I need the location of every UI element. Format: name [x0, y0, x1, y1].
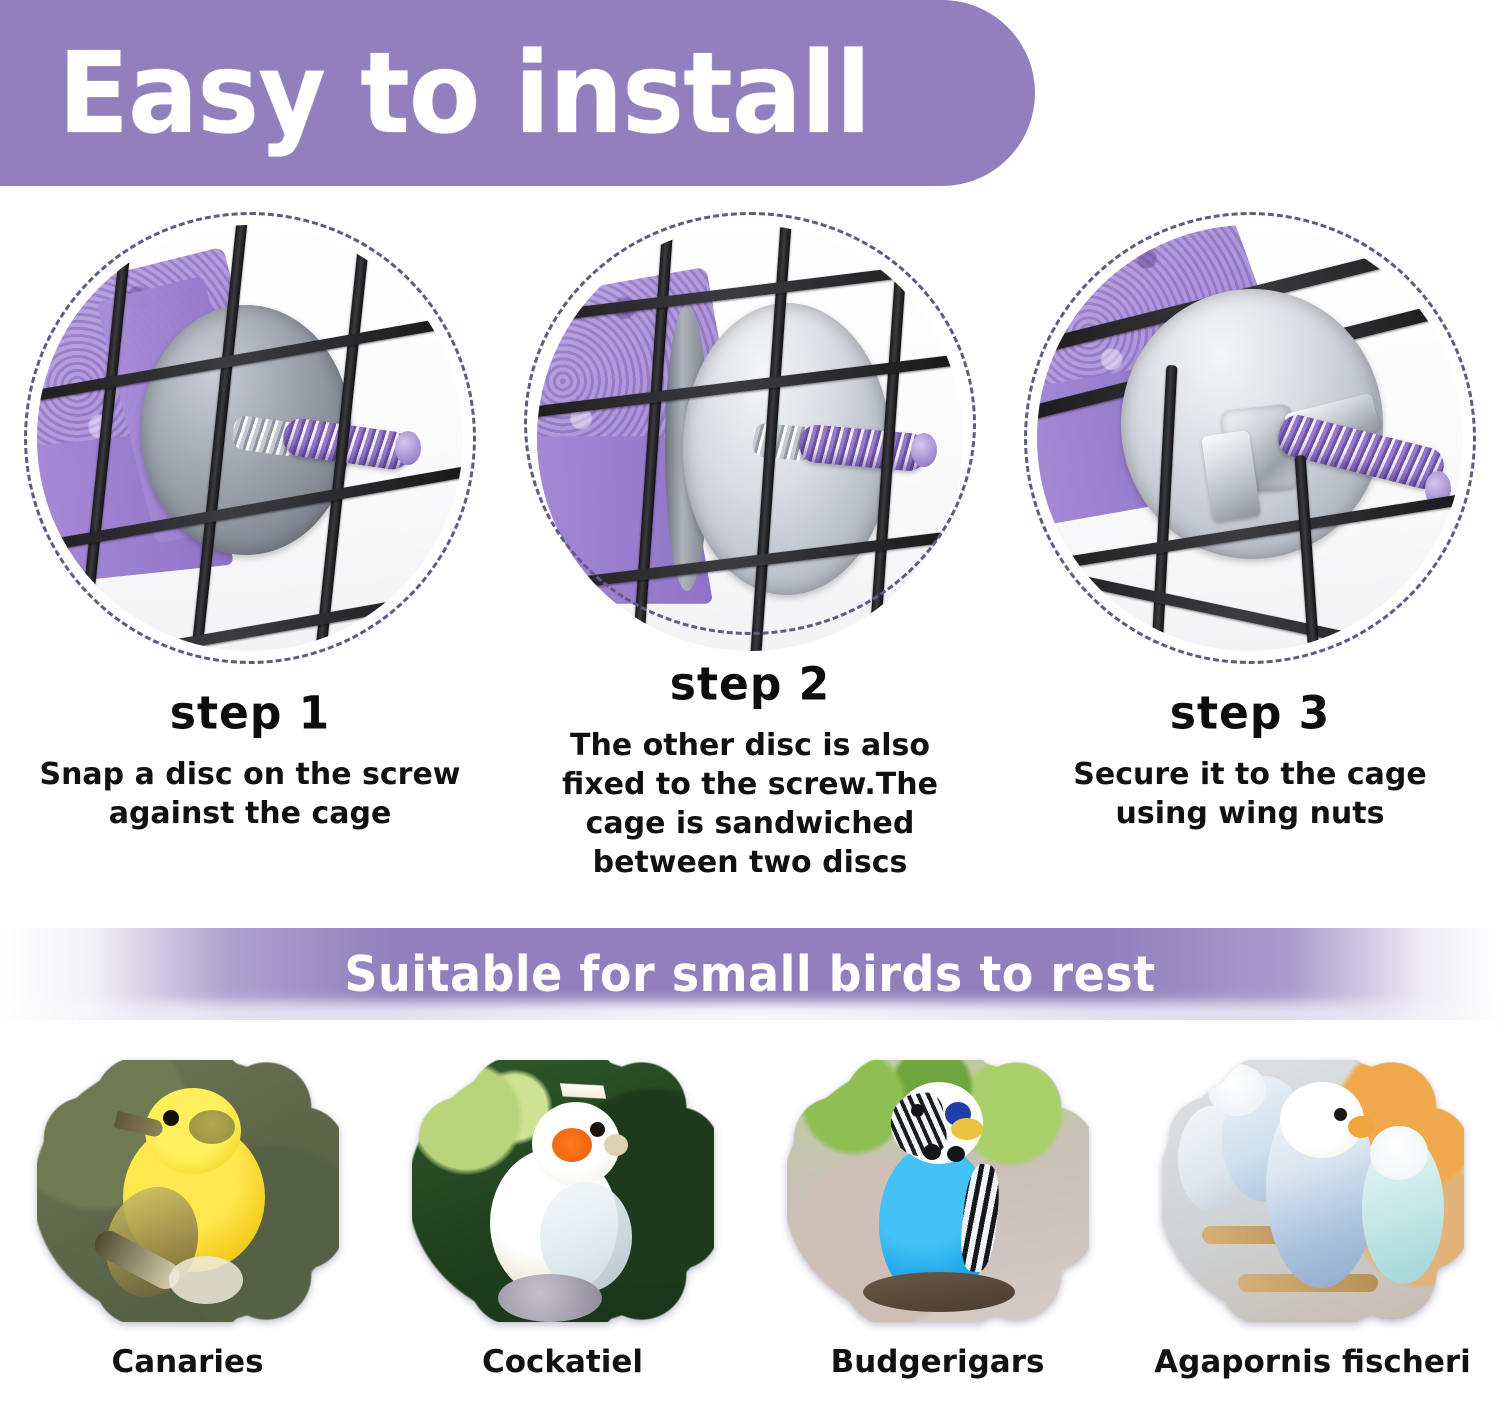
- step-2-title: step 2: [670, 658, 831, 711]
- bird-card-agapornis: Agapornis fischeri: [1125, 1060, 1500, 1415]
- step-1-image: [24, 212, 476, 664]
- step-2-description: The other disc is also fixed to the scre…: [535, 726, 965, 882]
- budgerigar-label: Budgerigars: [831, 1344, 1045, 1380]
- page-title: Easy to install: [58, 37, 870, 149]
- canary-photo-frame: [37, 1060, 339, 1322]
- step-1-description: Snap a disc on the screw against the cag…: [35, 755, 465, 833]
- cockatiel-label: Cockatiel: [482, 1344, 643, 1380]
- step-1-title: step 1: [170, 687, 331, 740]
- bird-card-cockatiel: Cockatiel: [375, 1060, 750, 1415]
- bird-card-budgerigars: Budgerigars: [750, 1060, 1125, 1415]
- step-1-dashed-ring: [24, 212, 476, 664]
- cockatiel-photo-frame: [412, 1060, 714, 1322]
- header-banner: Easy to install: [0, 0, 1035, 186]
- lovebird-photo: [1162, 1060, 1464, 1322]
- step-card-2: step 2 The other disc is also fixed to t…: [500, 212, 1000, 882]
- step-2-image: [524, 212, 976, 635]
- step-3-title: step 3: [1170, 687, 1331, 740]
- lovebird-photo-frame: [1162, 1060, 1464, 1322]
- step-3-dashed-ring: [1024, 212, 1476, 664]
- canary-label: Canaries: [111, 1344, 263, 1380]
- install-steps-row: step 1 Snap a disc on the screw against …: [0, 212, 1500, 882]
- step-3-image: [1024, 212, 1476, 664]
- step-card-1: step 1 Snap a disc on the screw against …: [0, 212, 500, 882]
- canary-photo: [37, 1060, 339, 1322]
- sub-banner-title: Suitable for small birds to rest: [344, 945, 1155, 1002]
- lovebird-label: Agapornis fischeri: [1154, 1344, 1471, 1380]
- step-3-description: Secure it to the cage using wing nuts: [1035, 755, 1465, 833]
- budgerigar-photo-frame: [787, 1060, 1089, 1322]
- step-2-dashed-ring: [524, 212, 976, 635]
- sub-banner: Suitable for small birds to rest: [0, 928, 1500, 1020]
- bird-card-canaries: Canaries: [0, 1060, 375, 1415]
- step-card-3: step 3 Secure it to the cage using wing …: [1000, 212, 1500, 882]
- budgerigar-photo: [787, 1060, 1089, 1322]
- bird-species-row: Canaries Cockatiel: [0, 1060, 1500, 1415]
- cockatiel-photo: [412, 1060, 714, 1322]
